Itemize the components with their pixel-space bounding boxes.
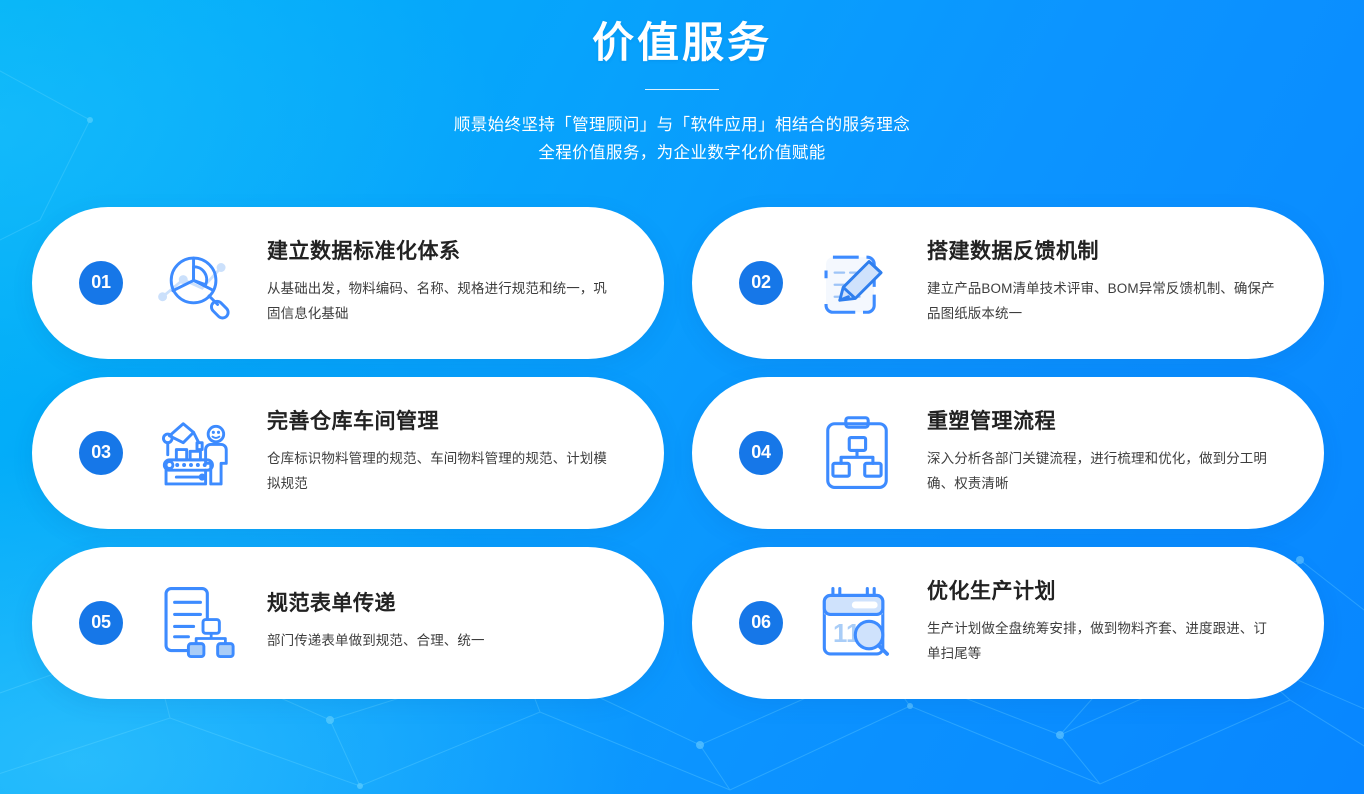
card-title: 建立数据标准化体系 — [267, 239, 620, 264]
card-text-block: 完善仓库车间管理 仓库标识物料管理的规范、车间物料管理的规范、计划模拟规范 — [267, 409, 664, 497]
card-text-block: 搭建数据反馈机制 建立产品BOM清单技术评审、BOM异常反馈机制、确保产品图纸版… — [927, 239, 1324, 327]
card-number-badge: 03 — [79, 431, 123, 475]
card-number-badge: 02 — [739, 261, 783, 305]
service-card-06[interactable]: 06 11 优化生产计划 生产计划做全盘统筹安排，做到物料齐套、进度跟进、订单扫… — [692, 547, 1324, 699]
card-number-badge: 04 — [739, 431, 783, 475]
clipboard-orgchart-icon — [811, 407, 903, 499]
card-text-block: 规范表单传递 部门传递表单做到规范、合理、统一 — [267, 591, 664, 654]
card-text-block: 优化生产计划 生产计划做全盘统筹安排，做到物料齐套、进度跟进、订单扫尾等 — [927, 579, 1324, 667]
card-title: 完善仓库车间管理 — [267, 409, 620, 434]
service-cards-grid: 01 建立数据标准化体系 从基础出 — [32, 207, 1332, 699]
card-title: 重塑管理流程 — [927, 409, 1280, 434]
card-description: 仓库标识物料管理的规范、车间物料管理的规范、计划模拟规范 — [267, 447, 607, 497]
service-card-05[interactable]: 05 — [32, 547, 664, 699]
card-title: 优化生产计划 — [927, 579, 1280, 604]
calendar-magnifier-icon: 11 — [811, 577, 903, 669]
card-number-badge: 01 — [79, 261, 123, 305]
card-description: 生产计划做全盘统筹安排，做到物料齐套、进度跟进、订单扫尾等 — [927, 617, 1277, 667]
card-title: 搭建数据反馈机制 — [927, 239, 1280, 264]
document-pencil-icon — [811, 237, 903, 329]
card-description: 深入分析各部门关键流程，进行梳理和优化，做到分工明确、权责清晰 — [927, 447, 1277, 497]
card-text-block: 建立数据标准化体系 从基础出发，物料编码、名称、规格进行规范和统一，巩固信息化基… — [267, 239, 664, 327]
card-description: 建立产品BOM清单技术评审、BOM异常反馈机制、确保产品图纸版本统一 — [927, 277, 1277, 327]
page-header: 价值服务 顺景始终坚持「管理顾问」与「软件应用」相结合的服务理念 全程价值服务，… — [0, 0, 1364, 168]
card-text-block: 重塑管理流程 深入分析各部门关键流程，进行梳理和优化，做到分工明确、权责清晰 — [927, 409, 1324, 497]
factory-robot-worker-icon — [151, 407, 243, 499]
card-number-badge: 06 — [739, 601, 783, 645]
title-divider — [645, 89, 719, 90]
card-description: 从基础出发，物料编码、名称、规格进行规范和统一，巩固信息化基础 — [267, 277, 607, 327]
card-title: 规范表单传递 — [267, 591, 620, 616]
page-subtitle: 顺景始终坚持「管理顾问」与「软件应用」相结合的服务理念 全程价值服务，为企业数字… — [0, 111, 1364, 168]
service-card-02[interactable]: 02 搭建数据反馈机制 建立产品BOM清单技术评审、BOM异常反馈机制、确保产品… — [692, 207, 1324, 359]
service-card-04[interactable]: 04 重塑管理流程 深入分析各部门关键流程，进行梳理和优化，做到分工明确、权责清… — [692, 377, 1324, 529]
page-title: 价值服务 — [0, 14, 1364, 72]
service-card-01[interactable]: 01 建立数据标准化体系 从基础出 — [32, 207, 664, 359]
document-flowchart-icon — [151, 577, 243, 669]
card-number-badge: 05 — [79, 601, 123, 645]
subtitle-line-2: 全程价值服务，为企业数字化价值赋能 — [0, 139, 1364, 167]
card-description: 部门传递表单做到规范、合理、统一 — [267, 629, 607, 654]
service-card-03[interactable]: 03 — [32, 377, 664, 529]
pie-chart-magnifier-icon — [151, 237, 243, 329]
subtitle-line-1: 顺景始终坚持「管理顾问」与「软件应用」相结合的服务理念 — [0, 111, 1364, 139]
